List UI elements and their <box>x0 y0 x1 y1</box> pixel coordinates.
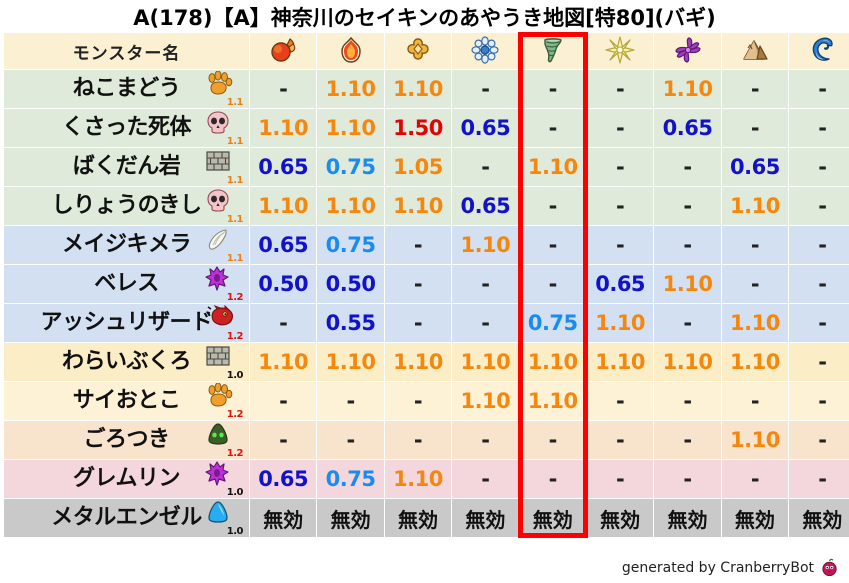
column-header-element-7[interactable] <box>722 33 788 69</box>
monster-family-icon-box: 1.2 <box>203 305 243 341</box>
resistance-cell: 1.10 <box>452 382 518 420</box>
column-header-element-1[interactable] <box>317 33 383 69</box>
earth-icon <box>738 36 772 66</box>
resistance-cell: 0.65 <box>250 148 316 186</box>
resistance-cell: 1.10 <box>452 226 518 264</box>
resistance-cell: 0.75 <box>317 226 383 264</box>
page-title: A(178)【A】神奈川のセイキンのあやうき地図[特80](バギ) <box>0 0 849 32</box>
resistance-cell: 無効 <box>520 499 586 537</box>
resistance-cell: 0.50 <box>317 265 383 303</box>
resistance-cell: - <box>587 226 653 264</box>
resistance-cell: 0.55 <box>317 304 383 342</box>
resistance-cell: - <box>587 70 653 108</box>
resistance-cell: - <box>654 148 720 186</box>
monster-multiplier: 1.1 <box>227 176 243 186</box>
dragon-icon <box>205 305 235 331</box>
monster-name-label: グレムリン <box>73 460 180 498</box>
meteor-icon <box>266 36 300 66</box>
table-row: メイジキメラ1.10.650.75-1.10----- <box>4 226 849 264</box>
resistance-cell: 無効 <box>722 499 788 537</box>
resistance-cell: 1.10 <box>722 343 788 381</box>
column-header-element-0[interactable] <box>250 33 316 69</box>
resistance-cell: 0.65 <box>654 109 720 147</box>
table-row: ねこまどう1.1-1.101.10---1.10-- <box>4 70 849 108</box>
column-header-element-6[interactable] <box>654 33 720 69</box>
monster-name-cell[interactable]: ねこまどう1.1 <box>4 70 249 108</box>
skull-icon <box>205 110 235 136</box>
resistance-cell: 1.10 <box>520 343 586 381</box>
resistance-cell: 0.50 <box>250 265 316 303</box>
slime-green-icon <box>205 422 235 448</box>
resistance-cell: - <box>452 148 518 186</box>
resistance-cell: 1.10 <box>587 343 653 381</box>
monster-multiplier: 1.2 <box>227 410 243 420</box>
resistance-cell: - <box>654 226 720 264</box>
resistance-cell: - <box>385 265 451 303</box>
resistance-cell: 1.10 <box>654 265 720 303</box>
monster-family-icon-box: 1.0 <box>203 344 243 380</box>
resistance-cell: 無効 <box>385 499 451 537</box>
table-body: ねこまどう1.1-1.101.10---1.10--くさった死体1.11.101… <box>4 70 849 537</box>
column-header-monster-name: モンスター名 <box>4 33 249 69</box>
skull-icon <box>205 188 235 214</box>
resistance-cell: 1.10 <box>385 187 451 225</box>
resistance-cell: 1.05 <box>385 148 451 186</box>
resistance-cell: 1.10 <box>722 187 788 225</box>
demon-icon <box>205 266 235 292</box>
monster-multiplier: 1.0 <box>227 527 243 537</box>
resistance-cell: - <box>722 265 788 303</box>
table-row: しりょうのきし1.11.101.101.100.65---1.10- <box>4 187 849 225</box>
resistance-cell: - <box>789 187 849 225</box>
monster-multiplier: 1.1 <box>227 137 243 147</box>
footer: generated by CranberryBot <box>622 558 839 577</box>
resistance-cell: 1.10 <box>722 304 788 342</box>
column-header-element-5[interactable] <box>587 33 653 69</box>
resistance-cell: - <box>789 460 849 498</box>
resistance-cell: 1.10 <box>520 382 586 420</box>
monster-name-label: メイジキメラ <box>62 226 191 264</box>
resistance-cell: 0.75 <box>317 148 383 186</box>
resistance-cell: - <box>654 187 720 225</box>
water-icon <box>805 36 839 66</box>
slime-blue-icon <box>205 500 235 526</box>
resistance-cell: - <box>452 304 518 342</box>
monster-name-label: ねこまどう <box>73 70 181 108</box>
resistance-cell: 1.10 <box>587 304 653 342</box>
table-row: アッシュリザード1.2-0.55--0.751.10-1.10- <box>4 304 849 342</box>
resistance-cell: - <box>789 304 849 342</box>
monster-family-icon-box: 1.1 <box>203 71 243 107</box>
monster-name-label: わらいぶくろ <box>62 343 191 381</box>
resistance-cell: 無効 <box>250 499 316 537</box>
monster-multiplier: 1.1 <box>227 254 243 264</box>
resistance-table-container: モンスター名 <box>0 32 849 538</box>
resistance-cell: - <box>250 304 316 342</box>
resistance-cell: 0.65 <box>452 187 518 225</box>
resistance-cell: - <box>385 304 451 342</box>
resistance-cell: 1.10 <box>385 460 451 498</box>
resistance-cell: - <box>722 460 788 498</box>
resistance-cell: - <box>587 460 653 498</box>
monster-multiplier: 1.0 <box>227 371 243 381</box>
explosion-icon <box>401 36 435 66</box>
resistance-cell: 1.10 <box>452 343 518 381</box>
monster-multiplier: 1.1 <box>227 215 243 225</box>
monster-name-label: しりょうのきし <box>52 187 202 225</box>
resistance-cell: - <box>789 70 849 108</box>
monster-multiplier: 1.2 <box>227 332 243 342</box>
monster-family-icon-box: 1.1 <box>203 188 243 224</box>
resistance-cell: - <box>789 343 849 381</box>
resistance-cell: - <box>789 148 849 186</box>
monster-name-label: メタルエンゼル <box>51 499 202 537</box>
resistance-cell: - <box>520 109 586 147</box>
resistance-cell: - <box>317 382 383 420</box>
monster-family-icon-box: 1.2 <box>203 383 243 419</box>
resistance-cell: - <box>587 187 653 225</box>
blizzard-icon <box>468 36 502 66</box>
column-header-element-3[interactable] <box>452 33 518 69</box>
monster-name-label: サイおとこ <box>73 382 181 420</box>
monster-multiplier: 1.2 <box>227 293 243 303</box>
cranberry-icon <box>820 558 839 577</box>
resistance-cell: - <box>250 382 316 420</box>
resistance-cell: - <box>520 70 586 108</box>
resistance-cell: - <box>520 187 586 225</box>
resistance-cell: - <box>520 460 586 498</box>
resistance-cell: 1.10 <box>722 421 788 459</box>
resistance-cell: - <box>452 265 518 303</box>
paw-icon <box>205 71 235 97</box>
resistance-cell: - <box>250 70 316 108</box>
dark-icon <box>671 36 705 66</box>
monster-family-icon-box: 1.1 <box>203 110 243 146</box>
monster-name-label: ごろつき <box>83 421 169 459</box>
resistance-cell: - <box>722 109 788 147</box>
monster-family-icon-box: 1.0 <box>203 500 243 536</box>
resistance-cell: - <box>722 226 788 264</box>
resistance-cell: 1.10 <box>250 343 316 381</box>
table-row: ベレス1.20.500.50---0.651.10-- <box>4 265 849 303</box>
resistance-cell: 1.10 <box>385 70 451 108</box>
resistance-cell: - <box>587 109 653 147</box>
monster-multiplier: 1.0 <box>227 488 243 498</box>
resistance-cell: 0.65 <box>452 109 518 147</box>
monster-name-cell[interactable]: アッシュリザード1.2 <box>4 304 249 342</box>
resistance-cell: - <box>789 265 849 303</box>
resistance-cell: 無効 <box>317 499 383 537</box>
column-header-element-2[interactable] <box>385 33 451 69</box>
resistance-cell: - <box>385 382 451 420</box>
resistance-cell: - <box>250 421 316 459</box>
resistance-cell: 1.10 <box>317 109 383 147</box>
tornado-icon <box>536 36 570 66</box>
resistance-cell: - <box>789 421 849 459</box>
monster-multiplier: 1.2 <box>227 449 243 459</box>
resistance-cell: - <box>385 421 451 459</box>
resistance-cell: 無効 <box>452 499 518 537</box>
table-row: わらいぶくろ1.01.101.101.101.101.101.101.101.1… <box>4 343 849 381</box>
resistance-cell: 1.10 <box>250 187 316 225</box>
resistance-cell: 1.10 <box>317 187 383 225</box>
monster-name-cell[interactable]: サイおとこ1.2 <box>4 382 249 420</box>
footer-label: generated by CranberryBot <box>622 560 814 576</box>
table-header-row: モンスター名 <box>4 33 849 69</box>
resistance-cell: 0.75 <box>317 460 383 498</box>
resistance-cell: 1.10 <box>520 148 586 186</box>
resistance-cell: 1.10 <box>317 70 383 108</box>
monster-family-icon-box: 1.1 <box>203 227 243 263</box>
resistance-cell: 0.65 <box>250 460 316 498</box>
resistance-cell: - <box>722 70 788 108</box>
resistance-cell: 1.10 <box>250 109 316 147</box>
resistance-cell: - <box>385 226 451 264</box>
resistance-cell: 1.10 <box>317 343 383 381</box>
resistance-cell: - <box>587 382 653 420</box>
resistance-cell: 1.10 <box>385 343 451 381</box>
monster-name-cell[interactable]: メイジキメラ1.1 <box>4 226 249 264</box>
resistance-cell: - <box>789 109 849 147</box>
resistance-cell: - <box>722 382 788 420</box>
resistance-cell: 無効 <box>789 499 849 537</box>
resistance-cell: 0.65 <box>250 226 316 264</box>
table-row: ばくだん岩1.10.650.751.05-1.10--0.65- <box>4 148 849 186</box>
resistance-cell: 1.50 <box>385 109 451 147</box>
table-row: グレムリン1.00.650.751.10------ <box>4 460 849 498</box>
resistance-cell: - <box>452 460 518 498</box>
column-header-element-8[interactable] <box>789 33 849 69</box>
resistance-cell: 0.65 <box>722 148 788 186</box>
monster-family-icon-box: 1.2 <box>203 422 243 458</box>
light-icon <box>603 36 637 66</box>
table-row: メタルエンゼル1.0無効無効無効無効無効無効無効無効無効 <box>4 499 849 537</box>
resistance-cell: - <box>654 421 720 459</box>
resistance-cell: - <box>654 382 720 420</box>
resistance-cell: - <box>654 304 720 342</box>
resistance-cell: 無効 <box>587 499 653 537</box>
resistance-cell: - <box>789 226 849 264</box>
monster-name-label: ばくだん岩 <box>73 148 181 186</box>
monster-name-cell[interactable]: ごろつき1.2 <box>4 421 249 459</box>
wing-icon <box>205 227 235 253</box>
resistance-cell: - <box>587 148 653 186</box>
monster-name-cell[interactable]: しりょうのきし1.1 <box>4 187 249 225</box>
resistance-cell: 1.10 <box>654 343 720 381</box>
column-header-element-4[interactable] <box>520 33 586 69</box>
monster-family-icon-box: 1.2 <box>203 266 243 302</box>
monster-multiplier: 1.1 <box>227 98 243 108</box>
table-row: サイおとこ1.2---1.101.10---- <box>4 382 849 420</box>
monster-name-cell[interactable]: グレムリン1.0 <box>4 460 249 498</box>
monster-name-label: アッシュリザード <box>40 304 212 342</box>
monster-name-cell[interactable]: メタルエンゼル1.0 <box>4 499 249 537</box>
resistance-cell: 1.10 <box>654 70 720 108</box>
resistance-cell: 0.65 <box>587 265 653 303</box>
monster-name-label: くさった死体 <box>62 109 191 147</box>
monster-family-icon-box: 1.1 <box>203 149 243 185</box>
paw-icon <box>205 383 235 409</box>
brick-icon <box>205 149 235 175</box>
monster-resistance-table: モンスター名 <box>3 32 849 538</box>
flame-icon <box>334 36 368 66</box>
resistance-cell: - <box>587 421 653 459</box>
monster-name-cell[interactable]: わらいぶくろ1.0 <box>4 343 249 381</box>
resistance-cell: - <box>654 460 720 498</box>
monster-family-icon-box: 1.0 <box>203 461 243 497</box>
monster-name-cell[interactable]: ベレス1.2 <box>4 265 249 303</box>
resistance-cell: - <box>317 421 383 459</box>
brick-icon <box>205 344 235 370</box>
monster-name-cell[interactable]: くさった死体1.1 <box>4 109 249 147</box>
resistance-cell: - <box>452 421 518 459</box>
resistance-cell: - <box>520 226 586 264</box>
monster-name-cell[interactable]: ばくだん岩1.1 <box>4 148 249 186</box>
table-row: くさった死体1.11.101.101.500.65--0.65-- <box>4 109 849 147</box>
resistance-cell: - <box>789 382 849 420</box>
demon-icon <box>205 461 235 487</box>
resistance-cell: - <box>520 265 586 303</box>
resistance-cell: 0.75 <box>520 304 586 342</box>
table-row: ごろつき1.2-------1.10- <box>4 421 849 459</box>
monster-name-label: ベレス <box>94 265 159 303</box>
resistance-cell: - <box>452 70 518 108</box>
resistance-cell: 無効 <box>654 499 720 537</box>
resistance-cell: - <box>520 421 586 459</box>
